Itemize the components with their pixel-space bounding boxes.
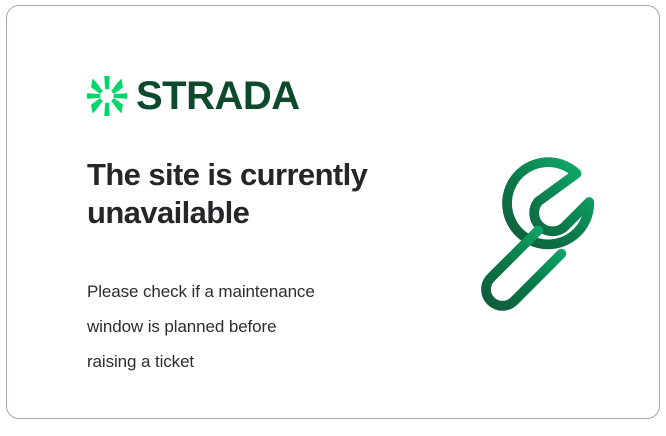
brand-logo: STRADA [86, 75, 300, 117]
wrench-illustration [462, 157, 620, 315]
brand-wordmark: STRADA [136, 76, 300, 116]
description-line: window is planned before [87, 310, 397, 345]
page-title: The site is currently unavailable [87, 156, 417, 232]
maintenance-card: STRADA The site is currently unavailable… [6, 5, 660, 419]
page-description: Please check if a maintenance window is … [87, 275, 397, 380]
description-line: raising a ticket [87, 345, 397, 380]
starburst-icon [86, 75, 128, 117]
description-line: Please check if a maintenance [87, 275, 397, 310]
wrench-icon [462, 157, 620, 315]
